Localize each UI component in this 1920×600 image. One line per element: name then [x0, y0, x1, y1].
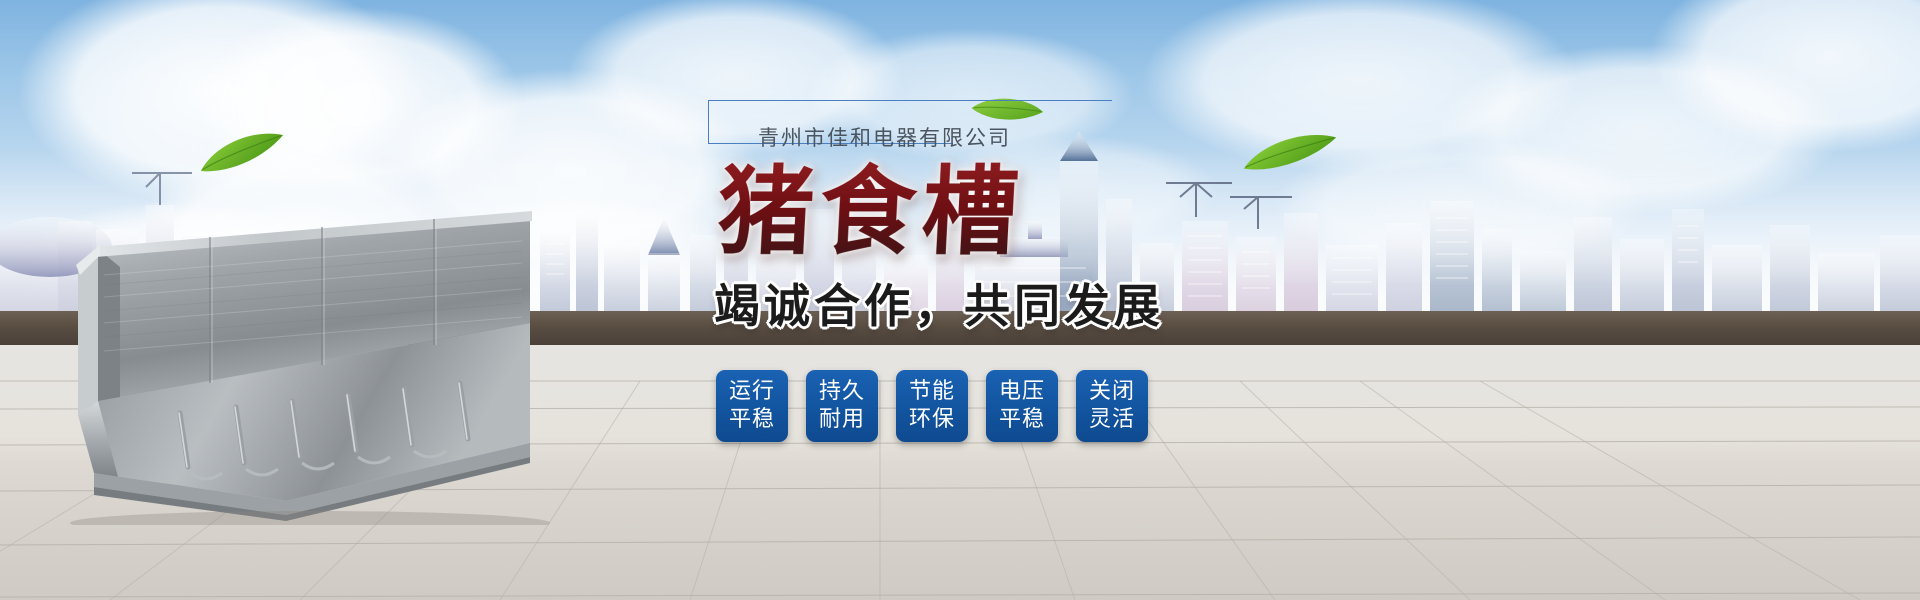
feature-badge-1-line2: 平稳	[729, 406, 775, 434]
feature-badge-5-line2: 灵活	[1089, 406, 1135, 434]
feature-badge-1-line1: 运行	[729, 378, 775, 406]
company-name: 青州市佳和电器有限公司	[758, 122, 1011, 152]
feature-badge-3-line1: 节能	[909, 378, 955, 406]
feature-badge-3-line2: 环保	[909, 406, 955, 434]
feature-badge-4[interactable]: 电压 平稳	[986, 370, 1058, 442]
feature-badge-2-line1: 持久	[819, 378, 865, 406]
feature-badge-2[interactable]: 持久 耐用	[806, 370, 878, 442]
feature-badge-1[interactable]: 运行 平稳	[716, 370, 788, 442]
feature-badge-4-line1: 电压	[999, 378, 1045, 406]
company-name-row: 青州市佳和电器有限公司	[698, 96, 1148, 156]
feature-badge-5-line1: 关闭	[1089, 378, 1135, 406]
page-subtitle: 竭诚合作，共同发展	[714, 270, 1250, 336]
feature-badge-4-line2: 平稳	[999, 406, 1045, 434]
feature-badge-2-line2: 耐用	[819, 406, 865, 434]
banner-copy: 青州市佳和电器有限公司 猪食槽 竭诚合作，共同发展	[690, 96, 1250, 336]
promo-banner: 青州市佳和电器有限公司 猪食槽 竭诚合作，共同发展 运行 平稳 持久 耐用 节能…	[0, 0, 1920, 600]
product-image-feeder-trough	[60, 205, 580, 505]
page-title: 猪食槽	[715, 160, 1252, 264]
feature-badge-3[interactable]: 节能 环保	[896, 370, 968, 442]
feature-badge-list: 运行 平稳 持久 耐用 节能 环保 电压 平稳 关闭 灵活	[716, 370, 1148, 442]
feature-badge-5[interactable]: 关闭 灵活	[1076, 370, 1148, 442]
decorative-bracket-line	[952, 100, 1112, 101]
